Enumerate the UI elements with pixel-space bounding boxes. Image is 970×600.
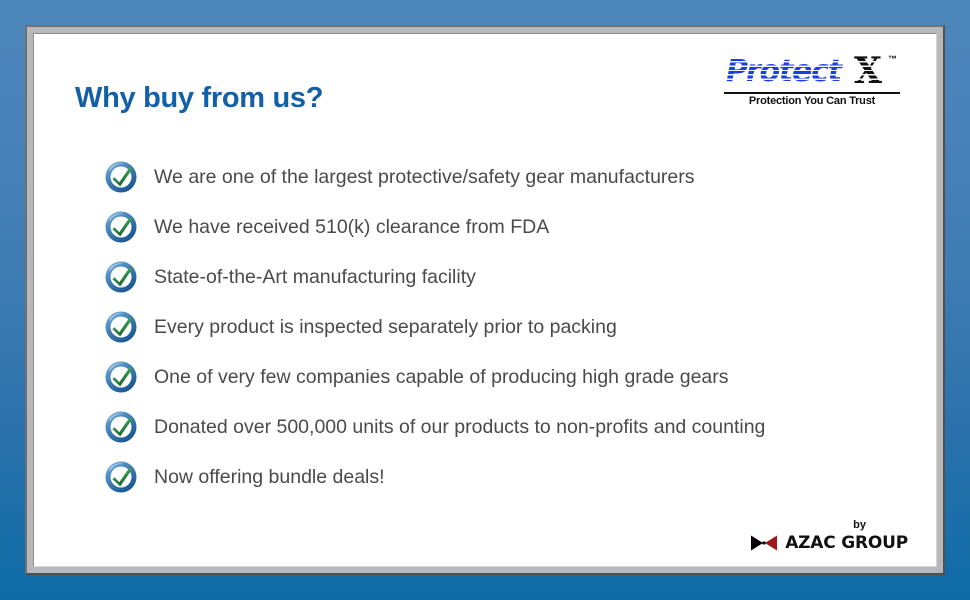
logo-divider-rule [724, 92, 900, 94]
check-circle-icon [104, 260, 138, 294]
list-item: We have received 510(k) clearance from F… [104, 202, 894, 252]
footer-brand: AZAC GROUP [751, 534, 908, 552]
list-item: We are one of the largest protective/saf… [104, 152, 894, 202]
trademark-symbol: ™ [888, 54, 897, 64]
logo-tagline: Protection You Can Trust [724, 95, 900, 107]
logo-primary-text: Protect [726, 55, 841, 89]
slide-content-area: Why buy from us? Protect X ™ Protection … [33, 33, 937, 567]
check-circle-icon [104, 160, 138, 194]
check-circle-icon [104, 310, 138, 344]
slide-frame: Why buy from us? Protect X ™ Protection … [25, 25, 945, 575]
footer-by-label: by [751, 519, 866, 532]
footer-attribution: by AZAC GROUP [751, 519, 908, 552]
check-circle-icon [104, 460, 138, 494]
list-item-label: Every product is inspected separately pr… [154, 315, 617, 339]
page-title: Why buy from us? [75, 82, 323, 115]
list-item: Now offering bundle deals! [104, 452, 894, 502]
list-item-label: One of very few companies capable of pro… [154, 365, 729, 389]
slide-canvas: Why buy from us? Protect X ™ Protection … [0, 0, 970, 600]
footer-company-name: AZAC GROUP [785, 534, 908, 552]
list-item: State-of-the-Art manufacturing facility [104, 252, 894, 302]
list-item: One of very few companies capable of pro… [104, 352, 894, 402]
list-item-label: State-of-the-Art manufacturing facility [154, 265, 476, 289]
logo-secondary-text: X [854, 52, 882, 90]
azac-bowtie-icon [751, 535, 777, 551]
list-item-label: We have received 510(k) clearance from F… [154, 215, 549, 239]
list-item-label: Donated over 500,000 units of our produc… [154, 415, 765, 439]
list-item: Every product is inspected separately pr… [104, 302, 894, 352]
list-item-label: Now offering bundle deals! [154, 465, 385, 489]
list-item-label: We are one of the largest protective/saf… [154, 165, 695, 189]
protectx-logo: Protect X ™ Protection You Can Trust [718, 54, 908, 114]
list-item: Donated over 500,000 units of our produc… [104, 402, 894, 452]
benefits-list: We are one of the largest protective/saf… [104, 152, 894, 502]
check-circle-icon [104, 410, 138, 444]
check-circle-icon [104, 210, 138, 244]
logo-wordmark: Protect X ™ [718, 54, 908, 94]
check-circle-icon [104, 360, 138, 394]
